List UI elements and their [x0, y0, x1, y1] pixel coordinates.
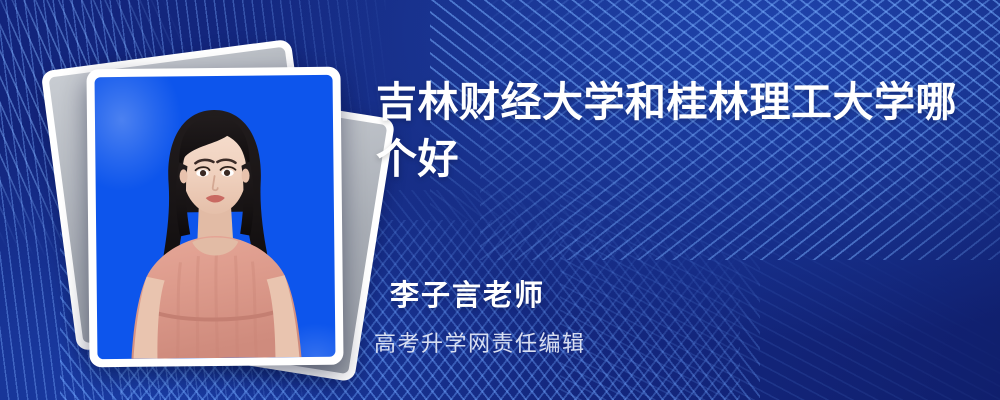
portrait-illustration: [95, 75, 336, 359]
article-cover-banner: 吉林财经大学和桂林理工大学哪个好 李子言老师 高考升学网责任编辑: [0, 0, 1000, 400]
byline: 李子言老师 高考升学网责任编辑: [374, 272, 586, 358]
photo-card-stack: [40, 30, 360, 370]
author-name: 李子言老师: [390, 272, 586, 314]
author-photo-card: [86, 67, 343, 368]
author-portrait: [95, 75, 336, 359]
page-title: 吉林财经大学和桂林理工大学哪个好: [376, 74, 976, 187]
author-role: 高考升学网责任编辑: [374, 326, 586, 358]
bottom-right-diagonal-pattern: [560, 180, 1000, 400]
